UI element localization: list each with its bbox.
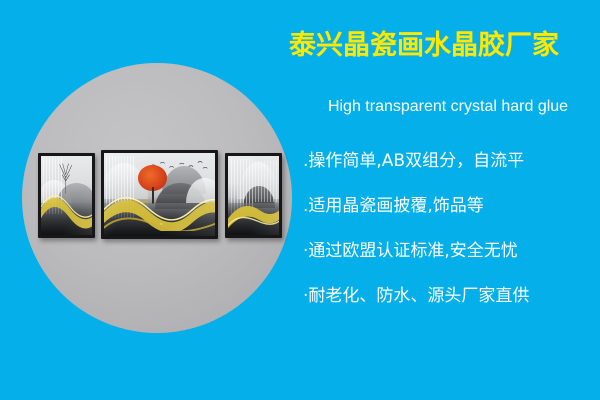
feature-item: .操作简单,AB双组分，自流平	[303, 150, 595, 172]
boat-icon	[153, 222, 171, 228]
painting-canvas-left	[41, 156, 92, 235]
feature-item: ·耐老化、防水、源头厂家直供	[303, 285, 595, 307]
page-title: 泰兴晶瓷画水晶胶厂家	[289, 30, 595, 62]
promo-banner: 泰兴晶瓷画水晶胶厂家 High transparent crystal hard…	[0, 0, 600, 400]
painting-canvas-right	[228, 156, 279, 235]
feature-list: .操作简单,AB双组分，自流平 .适用晶瓷画披覆,饰品等 ·通过欧盟认证标准,安…	[303, 150, 595, 307]
painting-frame-right	[225, 153, 282, 238]
painting-canvas-center	[104, 153, 215, 236]
triptych-painting-group	[36, 149, 286, 241]
painting-frame-center	[101, 150, 218, 239]
feature-item: ·通过欧盟认证标准,安全无忧	[303, 240, 595, 262]
golden-ribbon	[41, 188, 92, 229]
subtitle: High transparent crystal hard glue	[300, 97, 596, 117]
golden-ribbon	[228, 188, 279, 229]
feature-item: .适用晶瓷画披覆,饰品等	[303, 195, 595, 217]
painting-frame-left	[38, 153, 95, 238]
